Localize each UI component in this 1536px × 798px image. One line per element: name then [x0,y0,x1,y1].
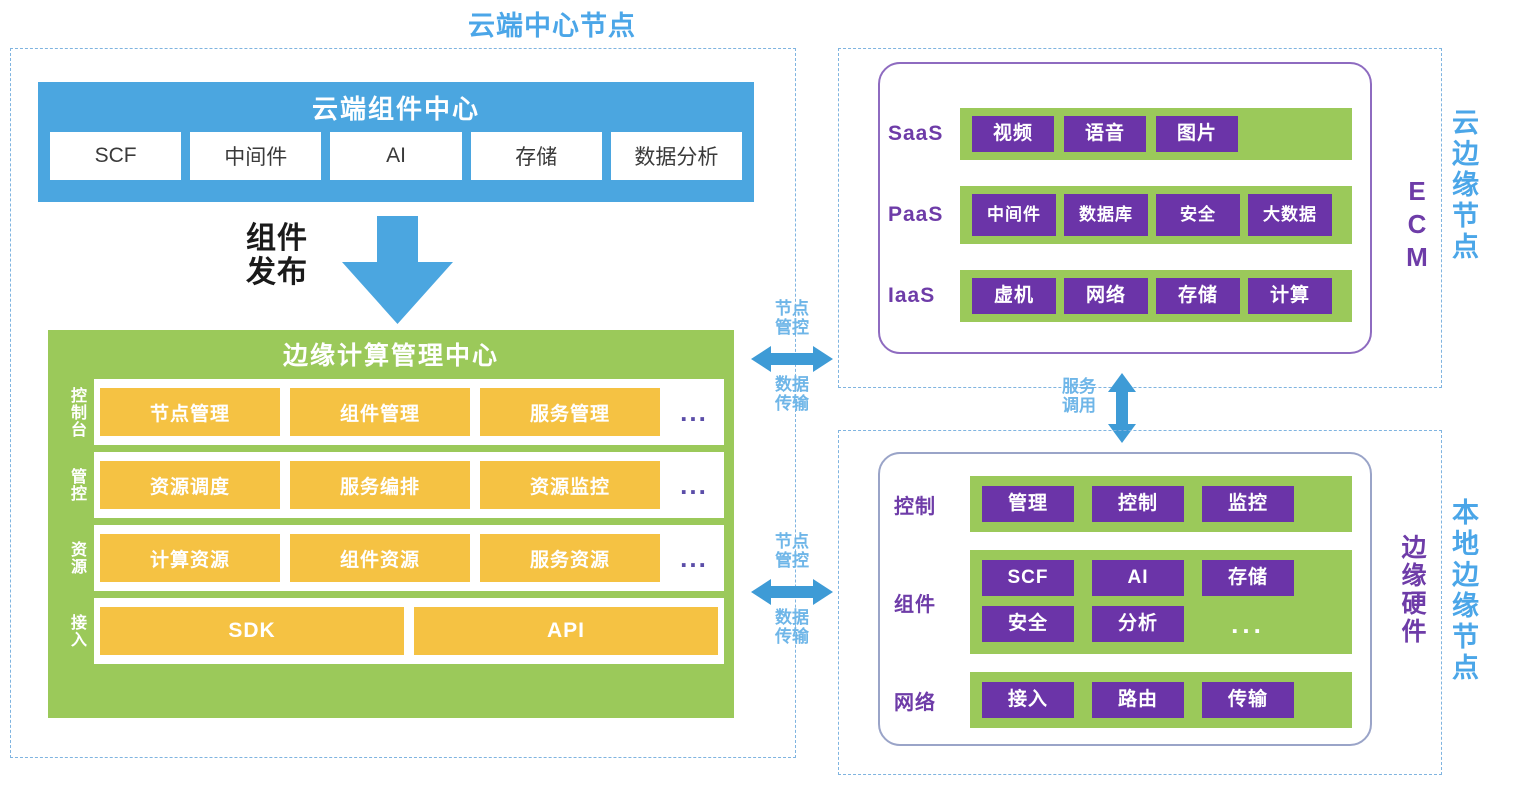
local-cell-control[interactable]: 控制 [1092,486,1184,522]
component-chip-scf[interactable]: SCF [50,132,181,180]
ecm-row-paas: PaaS 中间件 数据库 安全 大数据 [888,186,1364,244]
emc-cell-component-resource[interactable]: 组件资源 [290,534,470,582]
ecm-cell-network[interactable]: 网络 [1064,278,1148,314]
local-cell-ai[interactable]: AI [1092,560,1184,596]
local-row-network: 网络 接入 路由 传输 [894,672,1366,728]
local-edge-panel: 边缘硬件 控制 管理 控制 监控 组件 SCF AI 存储 安全 分析 [878,452,1372,746]
region-title-local-edge: 本地边缘节点 [1444,498,1483,684]
local-cell-access[interactable]: 接入 [982,682,1074,718]
emc-row-body-control: 资源调度 服务编排 资源监控 ... [94,452,724,518]
emc-row-resource: 资源 计算资源 组件资源 服务资源 ... [58,525,724,591]
local-cell-storage[interactable]: 存储 [1202,560,1294,596]
local-row-component: 组件 SCF AI 存储 安全 分析 ... [894,550,1366,654]
ecm-cell-image[interactable]: 图片 [1156,116,1238,152]
region-title-cloud-center: 云端中心节点 [468,4,636,43]
emc-row-control: 管控 资源调度 服务编排 资源监控 ... [58,452,724,518]
arrow-left-right-icon-top [751,344,833,379]
connector-label-top-upper: 节点 管控 [757,300,827,337]
emc-ellipsis-control: ... [670,470,718,501]
ecm-row-label-iaas: IaaS [888,284,960,308]
ecm-cell-storage[interactable]: 存储 [1156,278,1240,314]
ecm-cell-voice[interactable]: 语音 [1064,116,1146,152]
emc-cell-resource-monitoring[interactable]: 资源监控 [480,461,660,509]
publish-label: 组件 发布 [232,222,322,289]
local-row-track-network: 接入 路由 传输 [970,672,1352,728]
emc-cell-service-management[interactable]: 服务管理 [480,388,660,436]
ecm-cell-database[interactable]: 数据库 [1064,194,1148,236]
publish-label-line2: 发布 [232,256,322,290]
ecm-row-track-iaas: 虚机 网络 存储 计算 [960,270,1352,322]
emc-row-label-console: 控制台 [58,379,94,445]
diagram-canvas: 云端中心节点 云端组件中心 SCF 中间件 AI 存储 数据分析 组件 发布 边… [0,0,1536,798]
ecm-row-track-paas: 中间件 数据库 安全 大数据 [960,186,1352,244]
local-row-label-network: 网络 [894,686,970,715]
ecm-cell-compute[interactable]: 计算 [1248,278,1332,314]
emc-cell-node-management[interactable]: 节点管理 [100,388,280,436]
emc-ellipsis-console: ... [670,397,718,428]
region-title-cloud-edge: 云边缘节点 [1444,108,1483,263]
cloud-component-center-panel: 云端组件中心 SCF 中间件 AI 存储 数据分析 [38,82,754,202]
connector-label-bottom-lower: 数据 传输 [757,609,827,646]
local-edge-side-label: 边缘硬件 [1394,534,1430,646]
local-component-ellipsis: ... [1202,606,1294,642]
connector-label-top-lower: 数据 传输 [757,376,827,413]
emc-cell-resource-scheduling[interactable]: 资源调度 [100,461,280,509]
emc-row-label-access: 接入 [58,598,94,664]
local-cell-manage[interactable]: 管理 [982,486,1074,522]
emc-row-body-access: SDK API [94,598,724,664]
ecm-row-track-saas: 视频 语音 图片 [960,108,1352,160]
edge-management-center-title: 边缘计算管理中心 [48,330,734,372]
local-cell-security[interactable]: 安全 [982,606,1074,642]
emc-row-body-console: 节点管理 组件管理 服务管理 ... [94,379,724,445]
ecm-cell-middleware[interactable]: 中间件 [972,194,1056,236]
ecm-side-label: ECM [1401,176,1432,275]
emc-row-console: 控制台 节点管理 组件管理 服务管理 ... [58,379,724,445]
emc-row-label-control: 管控 [58,452,94,518]
component-chip-ai[interactable]: AI [330,132,461,180]
local-cell-monitor[interactable]: 监控 [1202,486,1294,522]
ecm-cell-video[interactable]: 视频 [972,116,1054,152]
emc-cell-compute-resource[interactable]: 计算资源 [100,534,280,582]
connector-label-bottom-upper: 节点 管控 [757,533,827,570]
ecm-cell-security[interactable]: 安全 [1156,194,1240,236]
emc-cell-sdk[interactable]: SDK [100,607,404,655]
local-cell-scf[interactable]: SCF [982,560,1074,596]
arrow-left-right-icon-bottom [751,577,833,612]
ecm-row-label-saas: SaaS [888,122,960,146]
emc-cell-service-resource[interactable]: 服务资源 [480,534,660,582]
local-row-label-control: 控制 [894,490,970,519]
component-chip-data-analysis[interactable]: 数据分析 [611,132,742,180]
ecm-cell-bigdata[interactable]: 大数据 [1248,194,1332,236]
emc-ellipsis-resource: ... [670,543,718,574]
local-row-track-control: 管理 控制 监控 [970,476,1352,532]
emc-cell-service-orchestration[interactable]: 服务编排 [290,461,470,509]
local-row-control: 控制 管理 控制 监控 [894,476,1366,532]
cloud-component-center-items: SCF 中间件 AI 存储 数据分析 [38,132,754,180]
publish-label-line1: 组件 [232,222,322,256]
ecm-row-iaas: IaaS 虚机 网络 存储 计算 [888,270,1364,322]
local-row-label-component: 组件 [894,588,970,617]
local-cell-transmission[interactable]: 传输 [1202,682,1294,718]
component-chip-storage[interactable]: 存储 [471,132,602,180]
emc-row-label-resource: 资源 [58,525,94,591]
ecm-row-saas: SaaS 视频 语音 图片 [888,108,1364,160]
local-cell-routing[interactable]: 路由 [1092,682,1184,718]
emc-row-access: 接入 SDK API [58,598,724,664]
emc-cell-component-management[interactable]: 组件管理 [290,388,470,436]
edge-management-center-panel: 边缘计算管理中心 控制台 节点管理 组件管理 服务管理 ... 管控 资源调度 … [48,330,734,718]
arrow-down-icon [340,216,455,326]
local-row-track-component: SCF AI 存储 安全 分析 ... [970,550,1352,654]
ecm-panel: ECM SaaS 视频 语音 图片 PaaS 中间件 数据库 安全 大数据 Ia… [878,62,1372,354]
cloud-component-center-title: 云端组件中心 [38,82,754,126]
ecm-row-label-paas: PaaS [888,203,960,227]
local-cell-analysis[interactable]: 分析 [1092,606,1184,642]
component-chip-middleware[interactable]: 中间件 [190,132,321,180]
emc-cell-api[interactable]: API [414,607,718,655]
ecm-cell-vm[interactable]: 虚机 [972,278,1056,314]
emc-row-body-resource: 计算资源 组件资源 服务资源 ... [94,525,724,591]
connector-label-service-call: 服务 调用 [1036,378,1096,415]
